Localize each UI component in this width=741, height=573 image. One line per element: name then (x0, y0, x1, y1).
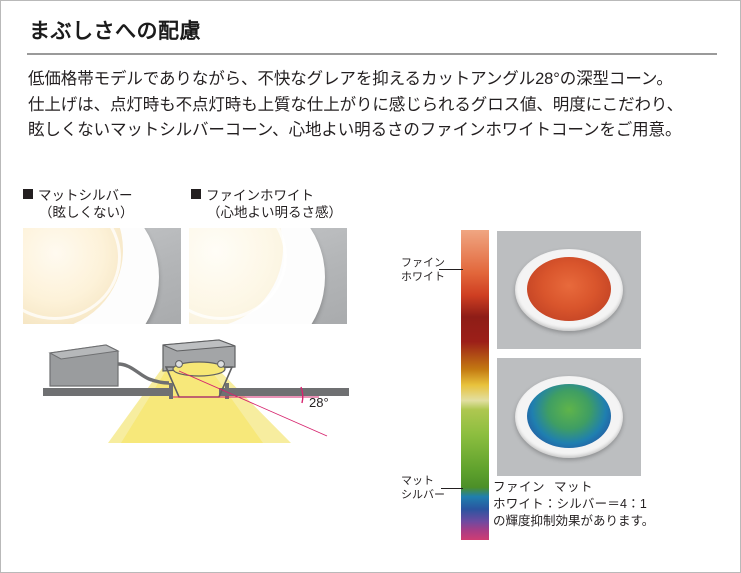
description-line-2: 仕上げは、点灯時も不点灯時も上質な仕上がりに感じられるグロス値、明度にこだわり、 (28, 93, 722, 119)
ratio-note-term-2-top: マット (554, 480, 593, 494)
scale-label-matt-silver: マット シルバー (401, 474, 445, 502)
luminance-gradient-scale (461, 230, 489, 540)
ratio-note-line-2: ホワイト：シルバー＝4：1 (493, 496, 733, 513)
luminance-map-disc (527, 384, 611, 448)
luminance-image-matt-silver (497, 358, 641, 476)
luminance-ratio-note: ファインマット ホワイト：シルバー＝4：1 の輝度抑制効果があります。 (493, 479, 733, 530)
luminance-image-fine-white (497, 231, 641, 349)
ratio-note-term-2-bottom: シルバー (557, 497, 608, 511)
photo-fine-white-cone (189, 228, 347, 324)
caption-matt-silver: マットシルバー （眩しくない） (23, 187, 134, 221)
caption-fine-white: ファインホワイト （心地よい明るさ感） (191, 187, 342, 221)
lamp-led-right (218, 361, 225, 368)
scale-label-fine-white-line2: ホワイト (401, 270, 445, 284)
page-title: まぶしさへの配慮 (29, 15, 201, 45)
description-line-3: 眩しくないマットシルバーコーン、心地よい明るさのファインホワイトコーンをご用意。 (28, 118, 722, 144)
ceiling-slab-right (219, 388, 349, 396)
caption-matt-silver-sub: （眩しくない） (39, 204, 134, 221)
description-paragraph: 低価格帯モデルでありながら、不快なグレアを抑えるカットアングル28°の深型コーン… (28, 67, 722, 144)
ratio-note-line-1: ファインマット (493, 479, 733, 496)
bullet-square-icon (191, 189, 201, 199)
caption-matt-silver-main: マットシルバー (38, 188, 133, 203)
product-spec-page: まぶしさへの配慮 低価格帯モデルでありながら、不快なグレアを抑えるカットアングル… (0, 0, 741, 573)
bullet-square-icon (23, 189, 33, 199)
scale-label-fine-white-line1: ファイン (401, 256, 445, 270)
caption-fine-white-sub: （心地よい明るさ感） (207, 204, 342, 221)
title-divider (27, 53, 717, 55)
trim-flange-left (169, 383, 173, 399)
scale-label-matt-silver-line1: マット (401, 474, 445, 488)
ceiling-slab (43, 388, 173, 396)
ratio-note-separator: ： (544, 497, 557, 511)
ratio-note-term-1-bottom: ホワイト (493, 497, 544, 511)
lamp-led-left (176, 361, 183, 368)
scale-label-fine-white: ファイン ホワイト (401, 256, 445, 284)
scale-label-matt-silver-line2: シルバー (401, 488, 445, 502)
description-line-1: 低価格帯モデルでありながら、不快なグレアを抑えるカットアングル28°の深型コーン… (28, 67, 722, 93)
caption-fine-white-main: ファインホワイト (206, 188, 314, 203)
angle-label: 28° (309, 395, 329, 410)
cut-angle-cross-section-diagram: 28° (23, 331, 353, 451)
scale-leader-line-matt-silver (441, 488, 463, 489)
scale-leader-line-fine-white (439, 269, 463, 270)
ratio-note-term-1-top: ファイン (493, 480, 545, 494)
photo-matt-silver-cone (23, 228, 181, 324)
ratio-note-equation: ＝4：1 (607, 497, 647, 511)
luminance-map-disc (527, 257, 611, 321)
ratio-note-line-3: の輝度抑制効果があります。 (493, 513, 733, 530)
